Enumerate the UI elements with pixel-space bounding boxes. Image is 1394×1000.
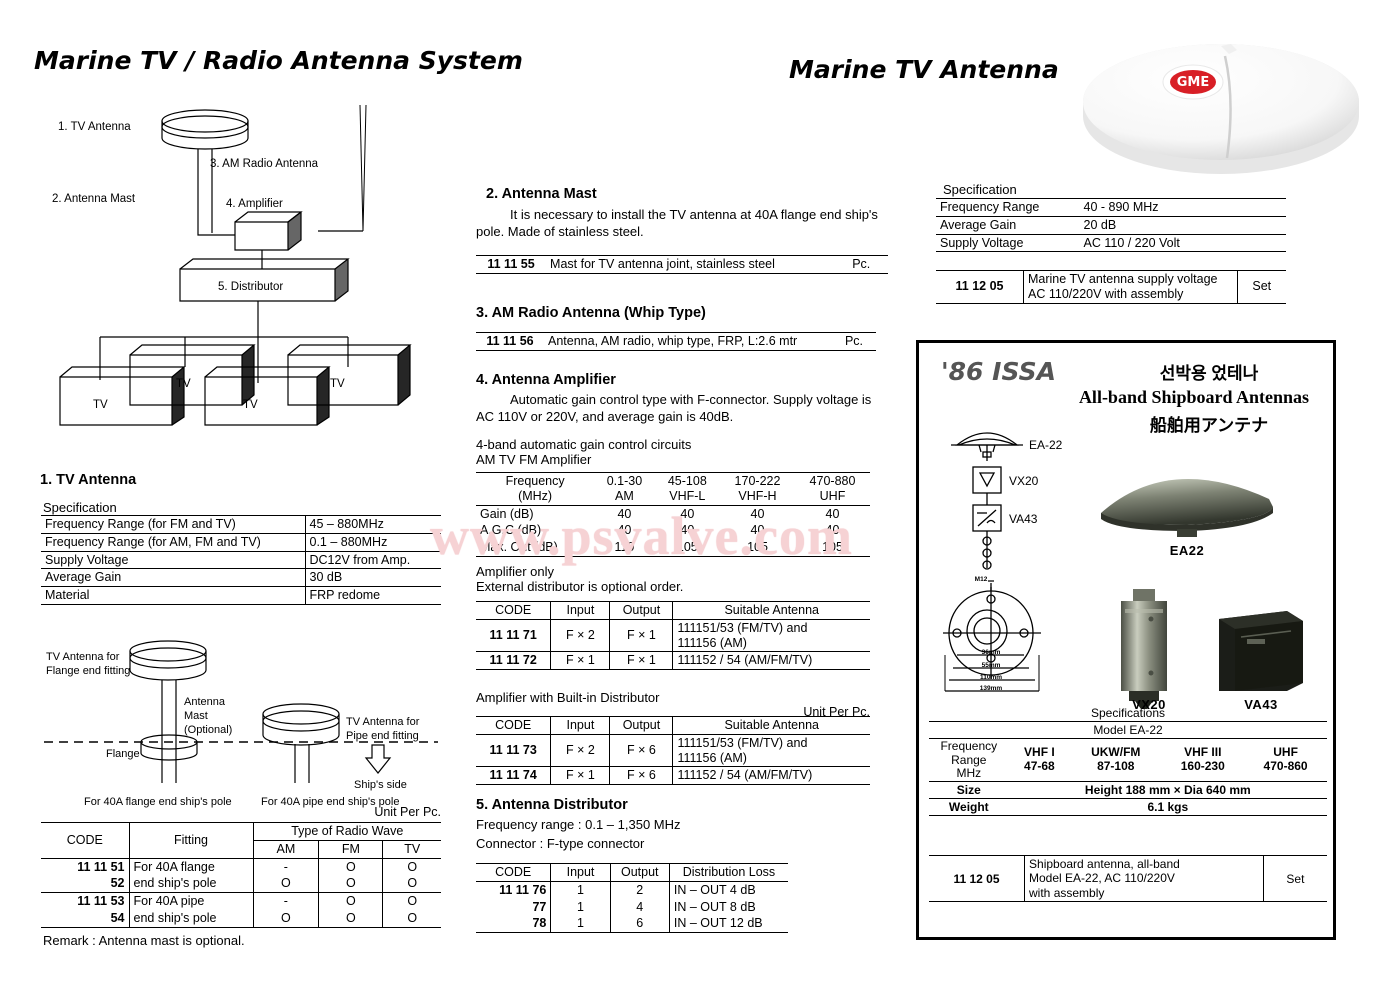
cell-code: 11 11 73 [476, 734, 551, 767]
diagram-label-amplifier: 4. Amplifier [226, 198, 283, 210]
issa-frequency-label: Frequency Range MHz [929, 739, 1009, 782]
amplifier-band-table: Frequency (MHz) 0.1-30 AM 45-108 VHF-L 1… [476, 472, 870, 557]
issa-specifications-table: Specifications Model EA-22 Frequency Ran… [929, 705, 1327, 816]
freq-label-line2: Range [951, 753, 986, 767]
fitting-label-flange-end-1: TV Antenna for [46, 651, 120, 663]
radome-logo-text: GME [1177, 75, 1210, 90]
table-header-row: CODE Input Output Suitable Antenna [476, 717, 870, 735]
cell-value: 40 [594, 505, 654, 522]
freq-label-line3: MHz [956, 766, 981, 780]
th-band-name: VHF-H [738, 489, 776, 503]
issa-code-table: 11 12 05 Shipboard antenna, all-band Mod… [929, 855, 1327, 902]
cell-suitable-antenna: 111152 / 54 (AM/FM/TV) [673, 767, 870, 785]
fitting-label-mast-1: Antenna [184, 696, 226, 708]
table-row: 77 1 4 IN – OUT 8 dB [476, 899, 788, 916]
amplifier-band-label: 4-band automatic gain control circuits A… [476, 437, 691, 467]
cell-code: 11 11 76 [476, 881, 551, 898]
th-am: AM [253, 840, 319, 858]
issa-label-vx20: VX20 [1009, 474, 1039, 488]
issa-label-ea22: EA-22 [1029, 438, 1063, 452]
cell-output: 2 [610, 881, 669, 898]
issa-panel: '86 ISSA 선박용 었테나 All-band Shipboard Ante… [916, 340, 1336, 940]
cell-output: F × 1 [610, 619, 673, 652]
th-band-range: 170-222 [735, 474, 781, 488]
description-line2: AC 110/220V with assembly [1028, 287, 1183, 301]
antenna-mast-description: It is necessary to install the TV antenn… [476, 206, 890, 240]
distributor-frequency-range: Frequency range : 0.1 – 1,350 MHz [476, 816, 681, 835]
table-row: 52 end ship's pole O O O [41, 875, 441, 892]
marine-tv-antenna-photo: GME [1075, 20, 1360, 180]
issa-dim-55: 55mm [982, 662, 1001, 669]
cell-input: F × 2 [551, 619, 610, 652]
th-radio-wave-group: Type of Radio Wave [253, 823, 441, 841]
cell-unit: Set [1263, 856, 1327, 902]
table-row: 11 11 76 1 2 IN – OUT 4 dB [476, 881, 788, 898]
fitting-label-pipe-end-2: Pipe end fitting [346, 730, 419, 742]
description-line1: Marine TV antenna supply voltage [1028, 272, 1217, 286]
spec-value: 30 dB [305, 569, 441, 587]
cell-fitting-2: end ship's pole [129, 910, 253, 927]
spec-name: Average Gain [936, 216, 1080, 234]
table-header-row: CODE Input Output Distribution Loss [476, 864, 788, 882]
cell-code-2: 54 [41, 910, 129, 927]
spec-name: Supply Voltage [936, 234, 1080, 252]
fitting-label-flange: Flange [106, 748, 140, 760]
table-row: Supply Voltage DC12V from Amp. [41, 551, 441, 569]
table-header-row: CODE Fitting Type of Radio Wave [41, 823, 441, 841]
table-row: Frequency Range MHz VHF I 47-68 UKW/FM 8… [929, 739, 1327, 782]
description-line2: Model EA-22, AC 110/220V [1029, 871, 1175, 885]
cell-code: 11 11 74 [476, 767, 551, 785]
spec-value: 40 - 890 MHz [1080, 199, 1287, 217]
cell-value: 40 [594, 522, 654, 539]
diagram-label-tv-1: TV [93, 399, 108, 411]
table-header-row: CODE Input Output Suitable Antenna [476, 602, 870, 620]
table-row: 11 11 73 F × 2 F × 6 111151/53 (FM/TV) a… [476, 734, 870, 767]
issa-dim-139: 139mm [980, 685, 1003, 692]
unit-per-pc-label-1: Unit Per Pc. [41, 805, 441, 819]
table-row: 11 11 72 F × 1 F × 1 111152 / 54 (AM/FM/… [476, 652, 870, 670]
cell-input: F × 2 [551, 734, 610, 767]
spec-name: Average Gain [41, 569, 305, 587]
th-code: CODE [476, 864, 551, 882]
cell-fm: O [319, 858, 383, 875]
cell-tv: O [383, 893, 441, 910]
cell-tv: O [383, 858, 441, 875]
th-code: CODE [476, 717, 551, 735]
th-band-range: 0.1-30 [607, 474, 642, 488]
amplifier-only-code-table: CODE Input Output Suitable Antenna 11 11… [476, 601, 870, 670]
issa-band-cell: UHF 470-860 [1244, 739, 1327, 782]
th-fm: FM [319, 840, 383, 858]
amplifier-only-line2: External distributor is optional order. [476, 579, 683, 594]
table-row: A.G.C (dB) 40 40 40 40 [476, 522, 870, 539]
section-heading-antenna-distributor: 5. Antenna Distributor [476, 797, 628, 813]
amplifier-only-line1: Amplifier only [476, 564, 683, 579]
table-row: Average Gain 20 dB [936, 216, 1286, 234]
cell-output: F × 1 [610, 652, 673, 670]
cell-code: 78 [476, 915, 551, 932]
th-code: CODE [41, 823, 129, 859]
th-frequency-line1: Frequency [506, 474, 565, 488]
cell-param-name: Gain (dB) [476, 505, 594, 522]
cell-value: 105 [795, 539, 870, 556]
issa-photo-caption-ea22: EA22 [1170, 543, 1205, 558]
th-band-name: AM [615, 489, 634, 503]
diagram-label-tv-2: TV [176, 378, 191, 390]
cell-code: 77 [476, 899, 551, 916]
issa-band-cell: VHF I 47-68 [1009, 739, 1071, 782]
cell-unit: Pc. [832, 333, 876, 351]
th-distribution-loss: Distribution Loss [669, 864, 788, 882]
diagram-label-distributor: 5. Distributor [218, 281, 283, 293]
table-header-row: Frequency (MHz) 0.1-30 AM 45-108 VHF-L 1… [476, 473, 870, 506]
table-row: Frequency Range (for AM, FM and TV) 0.1 … [41, 533, 441, 551]
table-row: Frequency Range 40 - 890 MHz [936, 199, 1286, 217]
cell-am: O [253, 910, 319, 927]
issa-product-photos: EA22 VX20 VA43 [1091, 451, 1331, 706]
band-name: UHF [1273, 745, 1298, 759]
table-row: 11 11 71 F × 2 F × 1 111151/53 (FM/TV) a… [476, 619, 870, 652]
table-row: 54 end ship's pole O O O [41, 910, 441, 927]
cell-description: Antenna, AM radio, whip type, FRP, L:2.6… [544, 333, 832, 351]
issa-spec-title: Specifications [929, 705, 1327, 722]
band-range: 87-108 [1097, 759, 1134, 773]
th-frequency-line2: (MHz) [518, 489, 552, 503]
th-input: Input [551, 717, 610, 735]
issa-band-cell: VHF III 160-230 [1161, 739, 1244, 782]
diagram-label-am-radio-antenna: 3. AM Radio Antenna [210, 158, 319, 170]
th-input: Input [551, 602, 610, 620]
table-row: Average Gain 30 dB [41, 569, 441, 587]
issa-dim-110: 110mm [980, 674, 1002, 681]
page-title-left: Marine TV / Radio Antenna System [34, 46, 523, 75]
spec-name: Frequency Range (for AM, FM and TV) [41, 533, 305, 551]
th-band-range: 470-880 [810, 474, 856, 488]
remark-antenna-mast: Remark : Antenna mast is optional. [43, 933, 245, 948]
issa-title-english: All-band Shipboard Antennas [1059, 387, 1329, 408]
th-band-range: 45-108 [668, 474, 707, 488]
cell-code: 11 11 53 [41, 893, 129, 910]
description-line3: with assembly [1029, 886, 1104, 900]
section-heading-antenna-amplifier: 4. Antenna Amplifier [476, 372, 616, 388]
suitable-line1: 111151/53 (FM/TV) and [677, 621, 807, 635]
marine-tv-antenna-spec-table: Frequency Range 40 - 890 MHz Average Gai… [936, 198, 1286, 252]
th-suitable-antenna: Suitable Antenna [673, 602, 870, 620]
cell-description: Marine TV antenna supply voltage AC 110/… [1024, 271, 1238, 304]
cell-value: 105 [655, 539, 720, 556]
suitable-line2: 111156 (AM) [677, 636, 746, 650]
table-row: Max. Out (dB) 110 105 105 105 [476, 539, 870, 556]
issa-dim-36: 36mm [982, 649, 1001, 656]
th-band-name: VHF-L [669, 489, 705, 503]
cell-input: F × 1 [551, 652, 610, 670]
issa-band-cell: UKW/FM 87-108 [1070, 739, 1161, 782]
fitting-label-flange-end-2: Flange end fitting [46, 665, 130, 677]
am-radio-antenna-code-table: 11 11 56 Antenna, AM radio, whip type, F… [476, 332, 876, 351]
issa-size-value: Height 188 mm × Dia 640 mm [1009, 781, 1327, 798]
fitting-code-table: CODE Fitting Type of Radio Wave AM FM TV… [41, 822, 441, 928]
table-row: Weight 6.1 kgs [929, 799, 1327, 816]
cell-code: 11 11 51 [41, 858, 129, 875]
cell-code: 11 12 05 [936, 271, 1024, 304]
fitting-label-mast-3: (Optional) [184, 724, 232, 736]
cell-description: Mast for TV antenna joint, stainless ste… [546, 256, 834, 274]
amplifier-band-label-line1: 4-band automatic gain control circuits [476, 437, 691, 452]
diagram-label-tv-4: TV [330, 378, 345, 390]
cell-am: - [253, 893, 319, 910]
table-row: Frequency Range (for FM and TV) 45 – 880… [41, 516, 441, 534]
suitable-line2: 111156 (AM) [677, 751, 746, 765]
diagram-label-tv-antenna: 1. TV Antenna [58, 121, 131, 133]
cell-param-name: A.G.C (dB) [476, 522, 594, 539]
table-row: 11 11 56 Antenna, AM radio, whip type, F… [476, 333, 876, 351]
spec-value: FRP redome [305, 587, 441, 605]
freq-label-line1: Frequency [940, 739, 997, 753]
cell-output: F × 6 [610, 734, 673, 767]
cell-value: 40 [720, 505, 795, 522]
marine-tv-antenna-code-table: 11 12 05 Marine TV antenna supply voltag… [936, 270, 1286, 304]
band-name: UKW/FM [1091, 745, 1140, 759]
cell-value: 40 [655, 505, 720, 522]
table-row: Model EA-22 [929, 722, 1327, 739]
table-row: 11 12 05 Shipboard antenna, all-band Mod… [929, 856, 1327, 902]
page-title-right: Marine TV Antenna [789, 55, 1059, 84]
cell-output: 6 [610, 915, 669, 932]
cell-input: F × 1 [551, 767, 610, 785]
spec-name: Frequency Range [936, 199, 1080, 217]
cell-output: 4 [610, 899, 669, 916]
tv-antenna-spec-label: Specification [43, 500, 117, 515]
diagram-label-antenna-mast: 2. Antenna Mast [52, 193, 136, 205]
cell-value: 40 [795, 522, 870, 539]
table-row: Gain (dB) 40 40 40 40 [476, 505, 870, 522]
cell-tv: O [383, 910, 441, 927]
issa-size-label: Size [929, 781, 1009, 798]
cell-input: 1 [551, 899, 610, 916]
amplifier-builtin-distributor-label: Amplifier with Built-in Distributor [476, 690, 660, 705]
cell-fm: O [319, 893, 383, 910]
spec-value: 0.1 – 880MHz [305, 533, 441, 551]
table-row: 78 1 6 IN – OUT 12 dB [476, 915, 788, 932]
fitting-label-ships-side: Ship's side [354, 779, 407, 791]
antenna-amplifier-description: Automatic gain control type with F-conne… [476, 391, 890, 425]
suitable-line1: 111151/53 (FM/TV) and [677, 736, 807, 750]
table-row: Material FRP redome [41, 587, 441, 605]
th-output: Output [610, 864, 669, 882]
cell-code: 11 11 56 [476, 333, 544, 351]
cell-description: Shipboard antenna, all-band Model EA-22,… [1025, 856, 1264, 902]
band-range: 160-230 [1181, 759, 1225, 773]
distributor-code-table: CODE Input Output Distribution Loss 11 1… [476, 863, 788, 933]
description-line1: Shipboard antenna, all-band [1029, 857, 1180, 871]
table-row: 11 12 05 Marine TV antenna supply voltag… [936, 271, 1286, 304]
band-name: VHF III [1184, 745, 1221, 759]
cell-value: 40 [720, 522, 795, 539]
spec-name: Supply Voltage [41, 551, 305, 569]
issa-label-va43: VA43 [1009, 512, 1038, 526]
distributor-connector: Connector : F-type connector [476, 835, 681, 854]
th-band-name: UHF [820, 489, 846, 503]
cell-suitable-antenna: 111151/53 (FM/TV) and 111156 (AM) [673, 619, 870, 652]
cell-suitable-antenna: 111151/53 (FM/TV) and 111156 (AM) [673, 734, 870, 767]
cell-loss: IN – OUT 8 dB [669, 899, 788, 916]
cell-code-2: 52 [41, 875, 129, 892]
issa-title-korean: 선박용 었테나 [1089, 359, 1329, 384]
amplifier-only-label: Amplifier only External distributor is o… [476, 564, 683, 594]
cell-suitable-antenna: 111152 / 54 (AM/FM/TV) [673, 652, 870, 670]
cell-unit: Pc. [834, 256, 888, 274]
issa-badge: '86 ISSA [941, 357, 1056, 386]
tv-antenna-spec-table: Frequency Range (for FM and TV) 45 – 880… [41, 515, 441, 605]
table-row: 11 11 51 For 40A flange - O O [41, 858, 441, 875]
cell-fitting: For 40A flange [129, 858, 253, 875]
spec-value: 45 – 880MHz [305, 516, 441, 534]
section-heading-antenna-mast: 2. Antenna Mast [486, 186, 597, 202]
spec-value: AC 110 / 220 Volt [1080, 234, 1287, 252]
document-page: Marine TV / Radio Antenna System Marine … [0, 0, 1394, 1000]
th-input: Input [551, 864, 610, 882]
spec-name: Frequency Range (for FM and TV) [41, 516, 305, 534]
issa-model: Model EA-22 [929, 722, 1327, 739]
cell-code: 11 11 72 [476, 652, 551, 670]
table-row: 11 11 74 F × 1 F × 6 111152 / 54 (AM/FM/… [476, 767, 870, 785]
table-row: 11 11 55 Mast for TV antenna joint, stai… [476, 256, 888, 274]
cell-value: 105 [720, 539, 795, 556]
issa-title-japanese: 船舶用アンテナ [1089, 411, 1329, 436]
distributor-description: Frequency range : 0.1 – 1,350 MHz Connec… [476, 816, 681, 854]
cell-fitting: For 40A pipe [129, 893, 253, 910]
section-heading-am-radio-antenna: 3. AM Radio Antenna (Whip Type) [476, 305, 706, 321]
fitting-label-pipe-end-1: TV Antenna for [346, 716, 420, 728]
th-output: Output [610, 717, 673, 735]
spec-name: Material [41, 587, 305, 605]
spec-value: DC12V from Amp. [305, 551, 441, 569]
spec-value: 20 dB [1080, 216, 1287, 234]
diagram-label-tv-3: TV [243, 399, 258, 411]
system-block-diagram: 1. TV Antenna 2. Antenna Mast 3. AM Radi… [30, 105, 450, 425]
table-row: Supply Voltage AC 110 / 220 Volt [936, 234, 1286, 252]
cell-value: 40 [655, 522, 720, 539]
issa-weight-value: 6.1 kgs [1009, 799, 1327, 816]
th-output: Output [610, 602, 673, 620]
cell-unit: Set [1237, 271, 1286, 304]
amplifier-band-label-line2: AM TV FM Amplifier [476, 452, 691, 467]
th-fitting: Fitting [129, 823, 253, 859]
issa-weight-label: Weight [929, 799, 1009, 816]
cell-input: 1 [551, 915, 610, 932]
cell-param-name: Max. Out (dB) [476, 539, 594, 556]
cell-loss: IN – OUT 4 dB [669, 881, 788, 898]
band-range: 47-68 [1024, 759, 1055, 773]
section-heading-tv-antenna: 1. TV Antenna [40, 472, 136, 488]
th-tv: TV [383, 840, 441, 858]
marine-tv-antenna-spec-label: Specification [943, 182, 1017, 197]
band-range: 470-860 [1264, 759, 1308, 773]
cell-input: 1 [551, 881, 610, 898]
cell-output: F × 6 [610, 767, 673, 785]
cell-am: - [253, 858, 319, 875]
issa-dim-m12: M12 [975, 576, 988, 583]
fitting-label-mast-2: Mast [184, 710, 208, 722]
th-suitable-antenna: Suitable Antenna [673, 717, 870, 735]
cell-value: 110 [594, 539, 654, 556]
cell-code: 11 11 55 [476, 256, 546, 274]
antenna-fitting-diagram: TV Antenna for Flange end fitting Antenn… [36, 625, 446, 805]
cell-fm: O [319, 910, 383, 927]
cell-code: 11 12 05 [929, 856, 1025, 902]
table-row: Specifications [929, 705, 1327, 722]
cell-tv: O [383, 875, 441, 892]
band-name: VHF I [1024, 745, 1055, 759]
cell-fitting-2: end ship's pole [129, 875, 253, 892]
table-row: Size Height 188 mm × Dia 640 mm [929, 781, 1327, 798]
table-row: 11 11 53 For 40A pipe - O O [41, 893, 441, 910]
cell-am: O [253, 875, 319, 892]
cell-fm: O [319, 875, 383, 892]
cell-loss: IN – OUT 12 dB [669, 915, 788, 932]
th-code: CODE [476, 602, 551, 620]
cell-code: 11 11 71 [476, 619, 551, 652]
cell-value: 40 [795, 505, 870, 522]
amplifier-builtin-code-table: CODE Input Output Suitable Antenna 11 11… [476, 716, 870, 785]
antenna-mast-code-table: 11 11 55 Mast for TV antenna joint, stai… [476, 255, 888, 274]
